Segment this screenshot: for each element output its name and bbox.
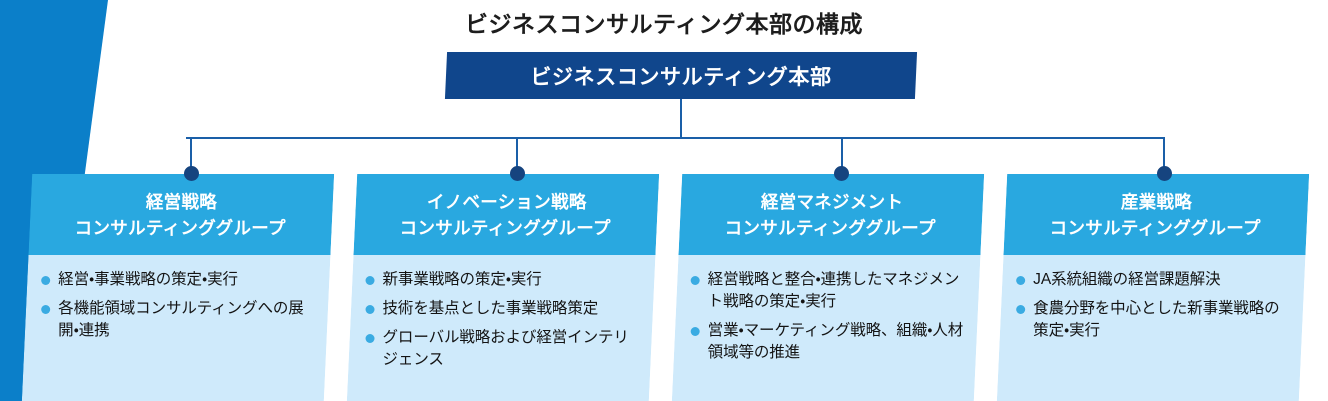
group-card-innovation-senryaku[interactable]: イノベーション戦略 コンサルティンググループ 新事業戦略の策定・実行 技術を基点…	[347, 174, 659, 401]
group-card-keiei-management[interactable]: 経営マネジメント コンサルティンググループ 経営戦略と整合・連携したマネジメント…	[672, 174, 984, 401]
list-item: 新事業戦略の策定・実行	[365, 269, 643, 291]
connector-dot-2	[510, 166, 525, 181]
group-title-line-2: コンサルティンググループ	[1050, 216, 1261, 241]
list-item: 経営・事業戦略の策定・実行	[40, 269, 318, 291]
root-node-label: ビジネスコンサルティング本部	[446, 52, 916, 99]
connector-bus	[186, 137, 1164, 139]
connector-dot-3	[834, 166, 849, 181]
group-bullet-list: 新事業戦略の策定・実行 技術を基点とした事業戦略策定 グローバル戦略および経営イ…	[365, 269, 643, 371]
list-item: 食農分野を中心とした新事業戦略の策定・実行	[1015, 298, 1293, 342]
group-title-line-1: 経営マネジメント	[761, 190, 903, 215]
group-card-body: 経営戦略と整合・連携したマネジメント戦略の策定・実行 営業・マーケティング戦略、…	[672, 255, 981, 401]
connector-dot-1	[184, 166, 199, 181]
group-card-header: 経営戦略 コンサルティンググループ	[28, 174, 334, 255]
group-card-header: イノベーション戦略 コンサルティンググループ	[353, 174, 659, 255]
group-title-line-1: 経営戦略	[146, 190, 217, 215]
group-card-body: 経営・事業戦略の策定・実行 各機能領域コンサルティングへの展開・連携	[22, 255, 331, 401]
list-item: グローバル戦略および経営インテリジェンス	[365, 327, 643, 371]
group-card-body: 新事業戦略の策定・実行 技術を基点とした事業戦略策定 グローバル戦略および経営イ…	[347, 255, 656, 401]
group-card-body: JA系統組織の経営課題解決 食農分野を中心とした新事業戦略の策定・実行	[997, 255, 1306, 401]
list-item: 経営戦略と整合・連携したマネジメント戦略の策定・実行	[690, 269, 968, 313]
group-title-line-2: コンサルティンググループ	[400, 216, 611, 241]
group-card-header: 産業戦略 コンサルティンググループ	[1003, 174, 1309, 255]
group-card-header: 経営マネジメント コンサルティンググループ	[678, 174, 984, 255]
list-item: 営業・マーケティング戦略、組織・人材領域等の推進	[690, 320, 968, 364]
group-title-line-2: コンサルティンググループ	[75, 216, 286, 241]
root-node: ビジネスコンサルティング本部	[445, 52, 917, 99]
group-bullet-list: 経営・事業戦略の策定・実行 各機能領域コンサルティングへの展開・連携	[40, 269, 318, 342]
connector-stem	[680, 99, 682, 138]
group-title-line-1: イノベーション戦略	[427, 190, 587, 215]
list-item: 各機能領域コンサルティングへの展開・連携	[40, 298, 318, 342]
group-bullet-list: JA系統組織の経営課題解決 食農分野を中心とした新事業戦略の策定・実行	[1015, 269, 1293, 342]
list-item: 技術を基点とした事業戦略策定	[365, 298, 643, 320]
list-item: JA系統組織の経営課題解決	[1015, 269, 1293, 291]
group-title-line-2: コンサルティンググループ	[725, 216, 936, 241]
group-card-keiei-senryaku[interactable]: 経営戦略 コンサルティンググループ 経営・事業戦略の策定・実行 各機能領域コンサ…	[22, 174, 334, 401]
group-bullet-list: 経営戦略と整合・連携したマネジメント戦略の策定・実行 営業・マーケティング戦略、…	[690, 269, 968, 364]
group-card-sangyo-senryaku[interactable]: 産業戦略 コンサルティンググループ JA系統組織の経営課題解決 食農分野を中心と…	[997, 174, 1309, 401]
connector-dot-4	[1157, 166, 1172, 181]
group-title-line-1: 産業戦略	[1121, 190, 1192, 215]
page-title: ビジネスコンサルティング本部の構成	[0, 5, 1328, 39]
org-chart-diagram: ビジネスコンサルティング本部の構成 ビジネスコンサルティング本部 経営戦略 コン…	[0, 0, 1328, 401]
